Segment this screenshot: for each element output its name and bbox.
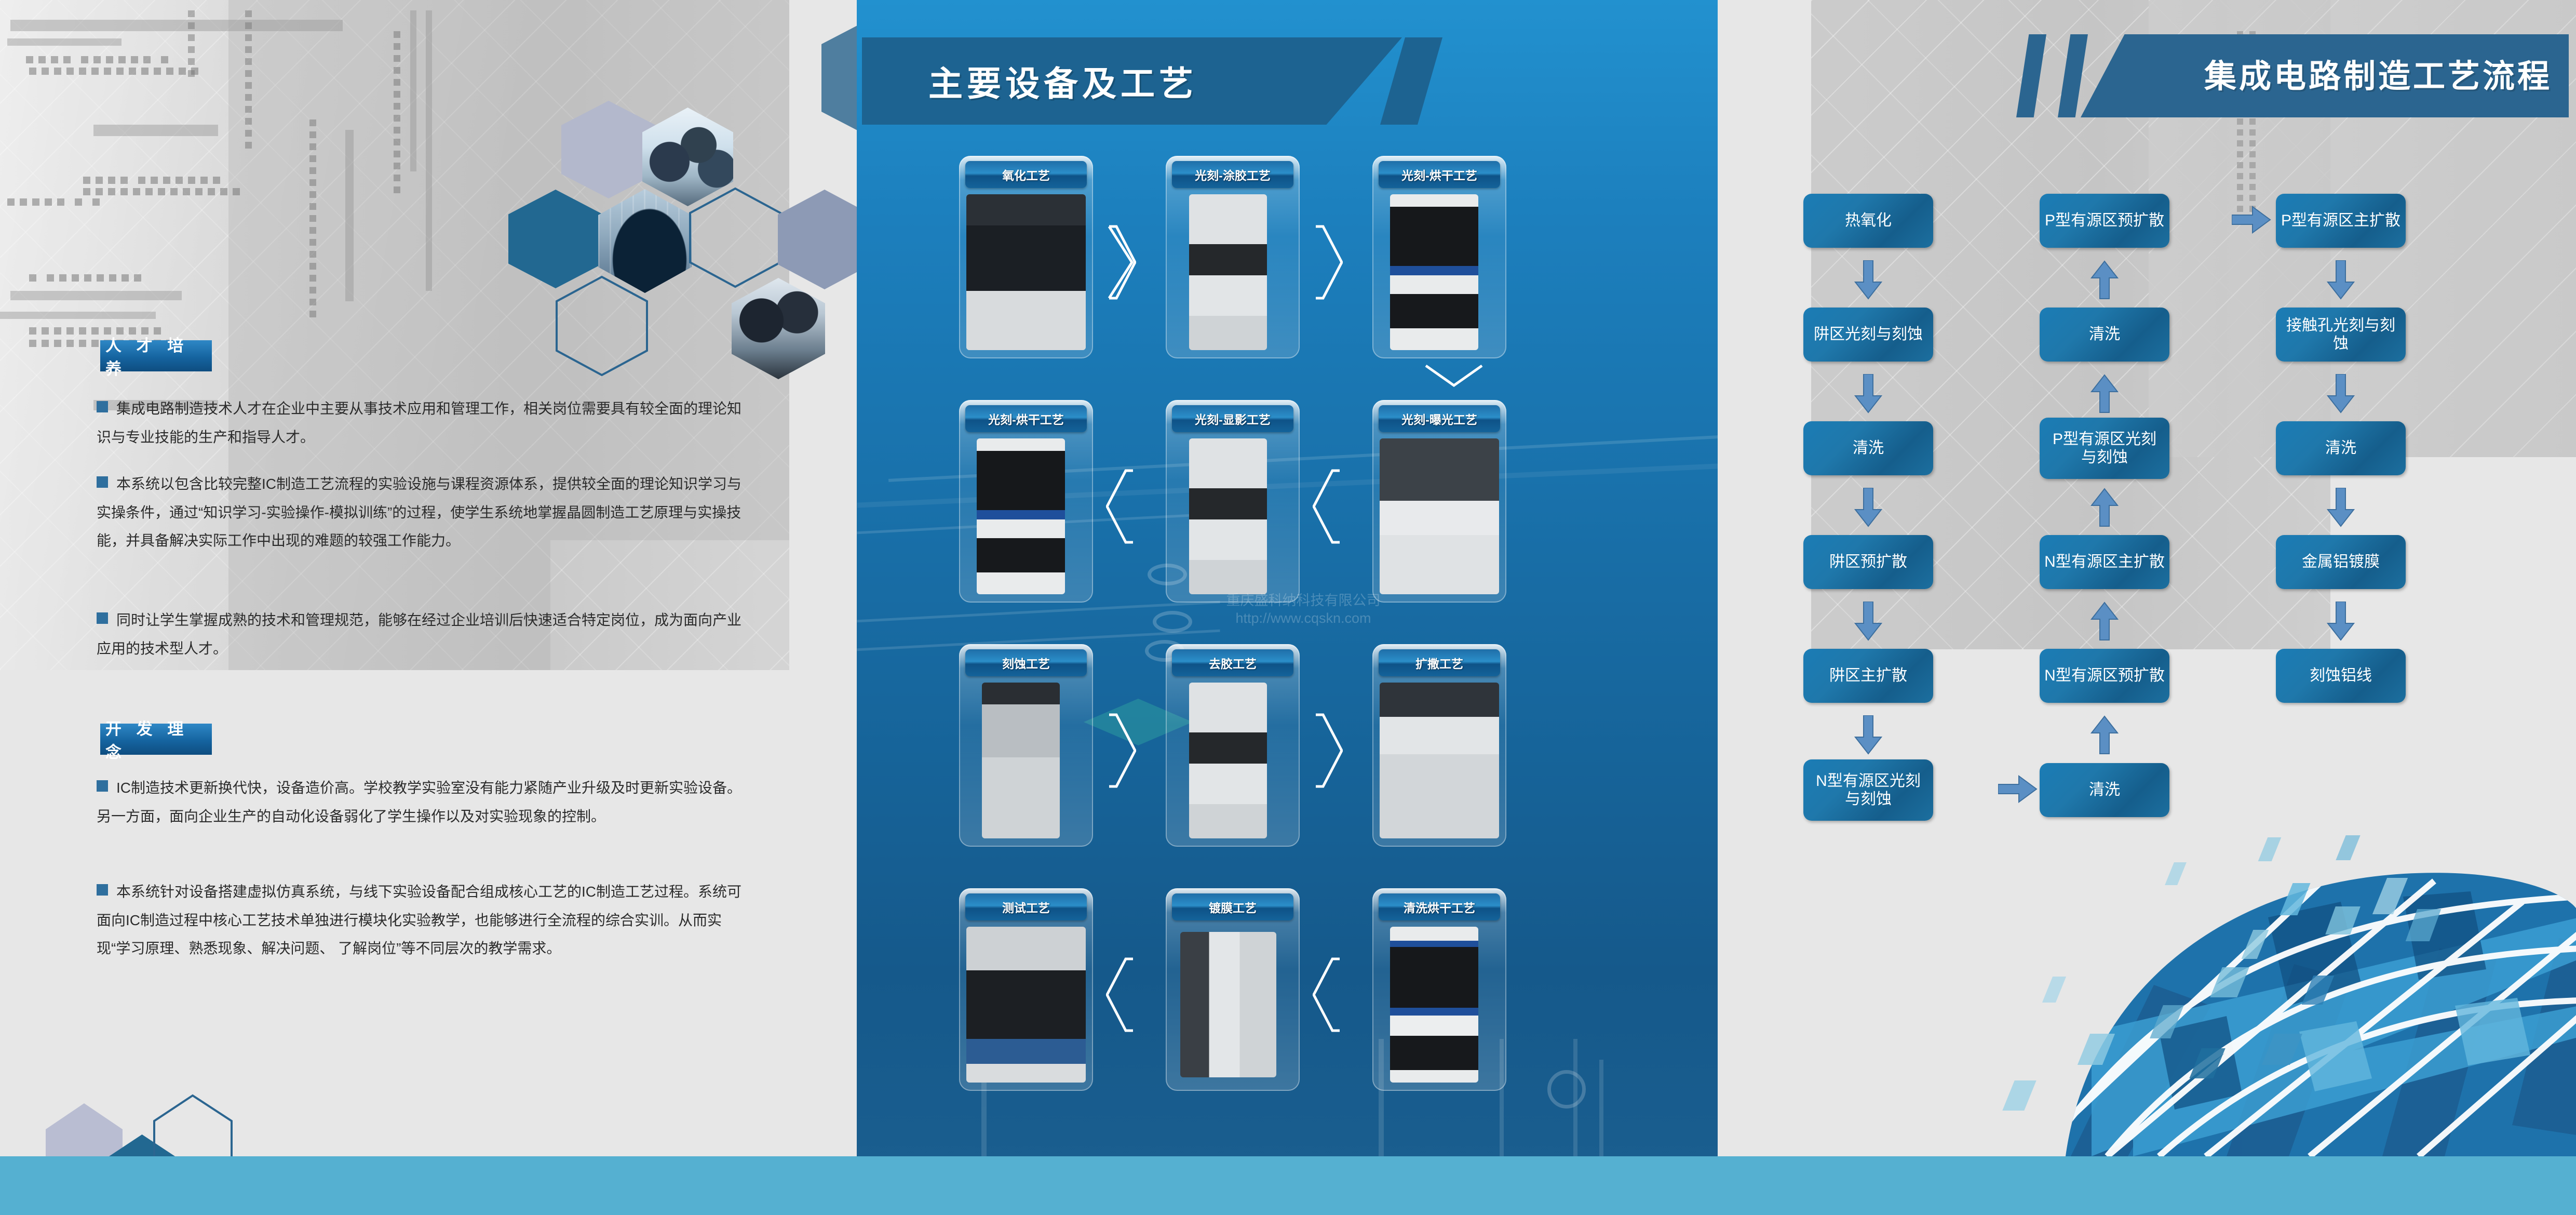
equipment-card[interactable]: 光刻-涂胶工艺: [1166, 156, 1300, 358]
section-badge-talent-training: 人 才 培 养: [100, 340, 212, 371]
circuit-bar: [93, 125, 218, 136]
hexagon-outline-2: [555, 275, 649, 377]
flow-box-label: N型有源区预扩散: [2044, 666, 2165, 685]
middle-panel-title-banner: 主要设备及工艺: [862, 37, 1402, 125]
bake-oven-photo: [1390, 194, 1478, 350]
equipment-label: 扩撒工艺: [1379, 649, 1500, 676]
section-badge-label: 开 发 理 念: [105, 716, 212, 763]
circuit-dot-row: [7, 198, 100, 206]
bake-oven-photo: [977, 438, 1065, 594]
arrow-down-icon: [1854, 374, 1882, 416]
arrow-up-icon: [2091, 374, 2119, 416]
flow-box[interactable]: N型有源区主扩散: [2040, 535, 2169, 589]
bullet-square: [97, 884, 108, 896]
circuit-dot-row: [26, 56, 168, 63]
flow-box[interactable]: 金属铝镀膜: [2276, 535, 2406, 589]
arrow-up-icon: [2091, 715, 2119, 757]
flow-box-label: 金属铝镀膜: [2302, 553, 2380, 571]
flow-box-label: 清洗: [2325, 439, 2356, 457]
equipment-label: 镀膜工艺: [1172, 893, 1293, 920]
flow-box-label: P型有源区光刻 与刻蚀: [2053, 430, 2156, 467]
equipment-card[interactable]: 光刻-烘干工艺: [959, 400, 1093, 603]
flow-box[interactable]: 阱区主扩散: [1803, 649, 1933, 703]
flow-box[interactable]: N型有源区预扩散: [2040, 649, 2169, 703]
flow-box[interactable]: 热氧化: [1803, 194, 1933, 248]
equipment-card[interactable]: 镀膜工艺: [1166, 888, 1300, 1091]
chevron-right-icon: [1106, 712, 1136, 790]
paragraph-talent-3: 同时让学生掌握成熟的技术和管理规范，能够在经过企业培训后快速适合特定岗位，成为面…: [97, 606, 751, 663]
equipment-card[interactable]: 光刻-烘干工艺: [1372, 156, 1506, 358]
circuit-dot-row: [29, 68, 198, 75]
arrow-down-icon: [1854, 488, 1882, 530]
section-badge-label: 人 才 培 养: [105, 332, 212, 379]
equipment-label: 光刻-显影工艺: [1172, 405, 1293, 432]
arrow-down-icon: [2327, 260, 2355, 302]
chevron-right-icon: [1106, 223, 1136, 301]
flow-box[interactable]: 刻蚀铝线: [2276, 649, 2406, 703]
equipment-label: 清洗烘干工艺: [1379, 893, 1500, 920]
arrow-up-icon: [2091, 488, 2119, 530]
flow-box[interactable]: 清洗: [2040, 308, 2169, 362]
equipment-card[interactable]: 清洗烘干工艺: [1372, 888, 1506, 1091]
circuit-bar-vertical: [426, 10, 432, 291]
bullet-square: [97, 612, 108, 624]
equipment-label: 氧化工艺: [965, 161, 1087, 188]
flow-box-label: 清洗: [1853, 439, 1884, 457]
bullet-square: [97, 780, 108, 792]
flow-box-label: 阱区预扩散: [1829, 553, 1907, 571]
middle-panel-title: 主要设备及工艺: [928, 56, 1197, 106]
etcher-photo: [982, 683, 1060, 838]
chevron-right-icon: [1313, 712, 1343, 790]
flow-box[interactable]: 清洗: [2276, 421, 2406, 475]
background-overlay-veil-1: [228, 0, 550, 670]
watermark: 重庆盛科纳科技有限公司 http://www.cqskn.com: [1148, 592, 1459, 627]
equipment-label: 光刻-曝光工艺: [1379, 405, 1500, 432]
flow-box[interactable]: P型有源区光刻 与刻蚀: [2040, 418, 2169, 479]
bullet-square: [97, 401, 108, 412]
clean-dry-bench-photo: [1390, 927, 1478, 1083]
right-panel: 集成电路制造工艺流程: [1718, 0, 2576, 1215]
arrow-down-icon: [2327, 602, 2355, 644]
circuit-dot-column: [245, 10, 252, 149]
circuit-dot-row: [83, 177, 220, 184]
chevron-left-icon: [1313, 468, 1343, 545]
arrow-down-icon: [1854, 715, 1882, 757]
flow-box-label: P型有源区预扩散: [2045, 211, 2164, 230]
strip-hood-photo: [1189, 683, 1267, 838]
poster-canvas: 人 才 培 养 集成电路制造技术人才在企业中主要从事技术应用和管理工作，相关岗位…: [0, 0, 2576, 1215]
right-panel-title: 集成电路制造工艺流程: [2204, 50, 2552, 97]
circuit-dot-column: [309, 119, 316, 317]
circuit-bar: [7, 38, 122, 46]
paragraph-talent-1: 集成电路制造技术人才在企业中主要从事技术应用和管理工作，相关岗位需要具有较全面的…: [97, 395, 751, 451]
equipment-card[interactable]: 氧化工艺: [959, 156, 1093, 358]
paragraph-text: 本系统针对设备搭建虚拟仿真系统，与线下实验设备配合组成核心工艺的IC制造工艺过程…: [97, 884, 741, 956]
flow-box[interactable]: N型有源区光刻 与刻蚀: [1803, 759, 1933, 821]
watermark-company: 重庆盛科纳科技有限公司: [1148, 592, 1459, 610]
equipment-card[interactable]: 扩撒工艺: [1372, 644, 1506, 847]
decorative-wave-graphic: [1936, 762, 2576, 1156]
flow-box-label: N型有源区主扩散: [2044, 553, 2165, 571]
hexagon-solid-gray-blue: [778, 190, 857, 289]
paragraph-text: 集成电路制造技术人才在企业中主要从事技术应用和管理工作，相关岗位需要具有较全面的…: [97, 400, 741, 445]
chevron-left-icon: [1313, 956, 1343, 1034]
sputter-coater-photo: [1180, 932, 1276, 1077]
equipment-label: 光刻-烘干工艺: [965, 405, 1087, 432]
equipment-label: 测试工艺: [965, 893, 1087, 920]
watermark-url: http://www.cqskn.com: [1148, 610, 1459, 627]
circuit-bar: [0, 312, 156, 319]
paragraph-talent-2: 本系统以包含比较完整IC制造工艺流程的实验设施与课程资源体系，提供较全面的理论知…: [97, 470, 751, 555]
arrow-up-icon: [2091, 602, 2119, 644]
equipment-label: 光刻-涂胶工艺: [1172, 161, 1293, 188]
flow-box[interactable]: 阱区预扩散: [1803, 535, 1933, 589]
flow-box[interactable]: P型有源区主扩散: [2276, 194, 2406, 248]
trace-pad-ring: [1547, 1070, 1586, 1109]
chevron-right-icon: [1313, 223, 1343, 301]
circuit-bar-vertical: [345, 130, 354, 301]
hexagon-outline-1: [689, 187, 782, 288]
flow-box-label: 刻蚀铝线: [2310, 666, 2372, 685]
circuit-dot-column: [188, 10, 195, 77]
paragraph-text: IC制造技术更新换代快，设备造价高。学校教学实验室没有能力紧随产业升级及时更新实…: [97, 780, 741, 824]
flow-box-label: 阱区光刻与刻蚀: [1814, 325, 1923, 343]
arrow-down-icon: [2327, 488, 2355, 530]
hexagon-solid-top: [821, 10, 857, 145]
right-panel-title-banner: 集成电路制造工艺流程: [2013, 34, 2569, 117]
arrow-right-icon: [1998, 775, 2038, 806]
equipment-card[interactable]: 光刻-曝光工艺: [1372, 400, 1506, 603]
chevron-left-icon: [1106, 468, 1136, 545]
circuit-dot-row: [29, 274, 141, 282]
arrow-down-icon: [2327, 374, 2355, 416]
flow-box-label: N型有源区光刻 与刻蚀: [1816, 772, 1921, 809]
develop-hood-photo: [1189, 438, 1267, 594]
middle-panel: 主要设备及工艺 氧化工艺 光刻-涂胶工艺 光刻-烘干工艺 光刻-烘干工艺: [857, 0, 1718, 1215]
equipment-card[interactable]: 去胶工艺: [1166, 644, 1300, 847]
arrow-down-icon: [1854, 260, 1882, 302]
coating-hood-photo: [1189, 194, 1267, 350]
paragraph-concept-1: IC制造技术更新换代快，设备造价高。学校教学实验室没有能力紧随产业升级及时更新实…: [97, 774, 751, 831]
chevron-down-icon: [1423, 364, 1485, 391]
equipment-label: 光刻-烘干工艺: [1379, 161, 1500, 188]
flow-box-label: 热氧化: [1845, 211, 1892, 230]
paragraph-text: 本系统以包含比较完整IC制造工艺流程的实验设施与课程资源体系，提供较全面的理论知…: [97, 476, 741, 549]
left-panel: 人 才 培 养 集成电路制造技术人才在企业中主要从事技术应用和管理工作，相关岗位…: [0, 0, 857, 1215]
arrow-down-icon: [1854, 602, 1882, 644]
circuit-bar: [10, 20, 343, 31]
circuit-dot-column: [394, 31, 400, 193]
paragraph-concept-2: 本系统针对设备搭建虚拟仿真系统，与线下实验设备配合组成核心工艺的IC制造工艺过程…: [97, 878, 751, 963]
flow-box[interactable]: 阱区光刻与刻蚀: [1803, 308, 1933, 362]
oxidation-furnace-photo: [966, 194, 1086, 350]
arrow-up-icon: [2091, 260, 2119, 302]
flow-box-label: 清洗: [2089, 325, 2120, 343]
flow-box[interactable]: P型有源区预扩散: [2040, 194, 2169, 248]
flow-box[interactable]: 接触孔光刻与刻蚀: [2276, 308, 2406, 362]
circuit-bar-vertical: [410, 10, 416, 171]
flow-box-label: 接触孔光刻与刻蚀: [2280, 316, 2402, 353]
equipment-card[interactable]: 光刻-显影工艺: [1166, 400, 1300, 603]
exposure-machine-photo: [1380, 438, 1499, 594]
paragraph-text: 同时让学生掌握成熟的技术和管理规范，能够在经过企业培训后快速适合特定岗位，成为面…: [97, 612, 741, 657]
equipment-label: 去胶工艺: [1172, 649, 1293, 676]
section-badge-development-concept: 开 发 理 念: [100, 724, 212, 755]
flow-box-label: 清洗: [2089, 781, 2120, 799]
circuit-bar: [10, 291, 182, 300]
flow-box[interactable]: 清洗: [2040, 763, 2169, 817]
bottom-accent-bar: [0, 1156, 2576, 1215]
bullet-square: [97, 476, 108, 488]
equipment-label: 刻蚀工艺: [965, 649, 1087, 676]
flow-box[interactable]: 清洗: [1803, 421, 1933, 475]
equipment-card[interactable]: 测试工艺: [959, 888, 1093, 1091]
diffusion-furnace-photo: [1380, 683, 1499, 838]
circuit-dot-row: [83, 188, 240, 195]
flow-box-label: P型有源区主扩散: [2281, 211, 2400, 230]
equipment-card[interactable]: 刻蚀工艺: [959, 644, 1093, 847]
probe-station-photo: [966, 927, 1086, 1083]
chevron-left-icon: [1106, 956, 1136, 1034]
flow-box-label: 阱区主扩散: [1829, 666, 1907, 685]
arrow-right-icon: [2232, 206, 2271, 236]
